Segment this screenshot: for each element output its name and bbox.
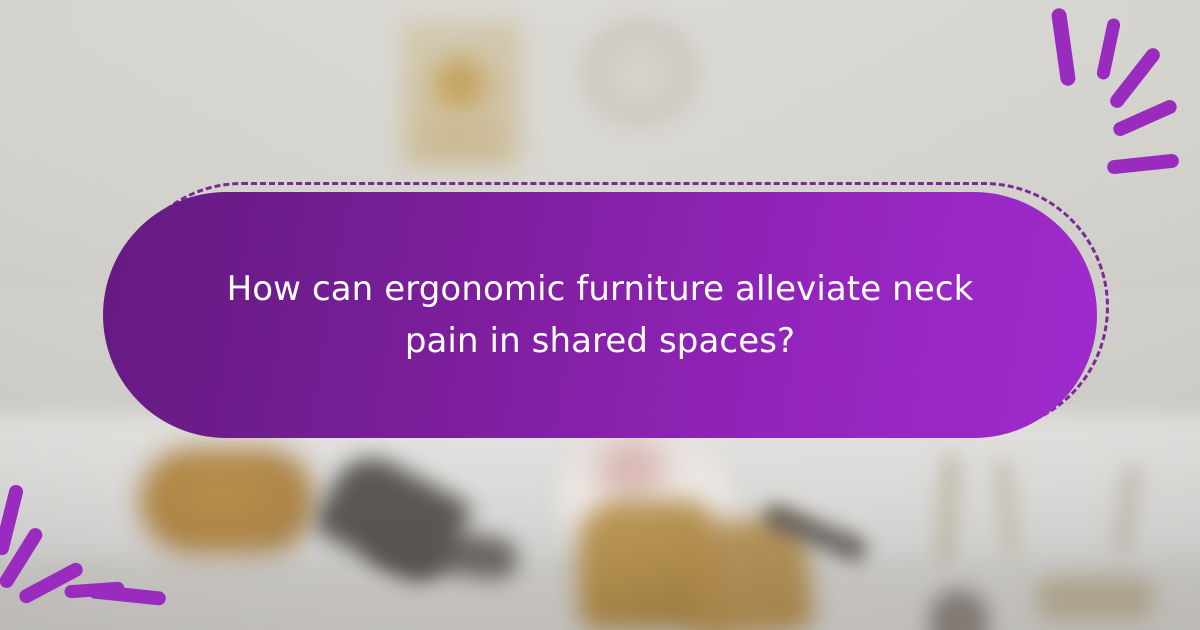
- card-body: How can ergonomic furniture alleviate ne…: [103, 192, 1097, 438]
- question-card: How can ergonomic furniture alleviate ne…: [103, 182, 1097, 438]
- poster-canvas: How can ergonomic furniture alleviate ne…: [0, 0, 1200, 630]
- question-text: How can ergonomic furniture alleviate ne…: [163, 263, 1037, 367]
